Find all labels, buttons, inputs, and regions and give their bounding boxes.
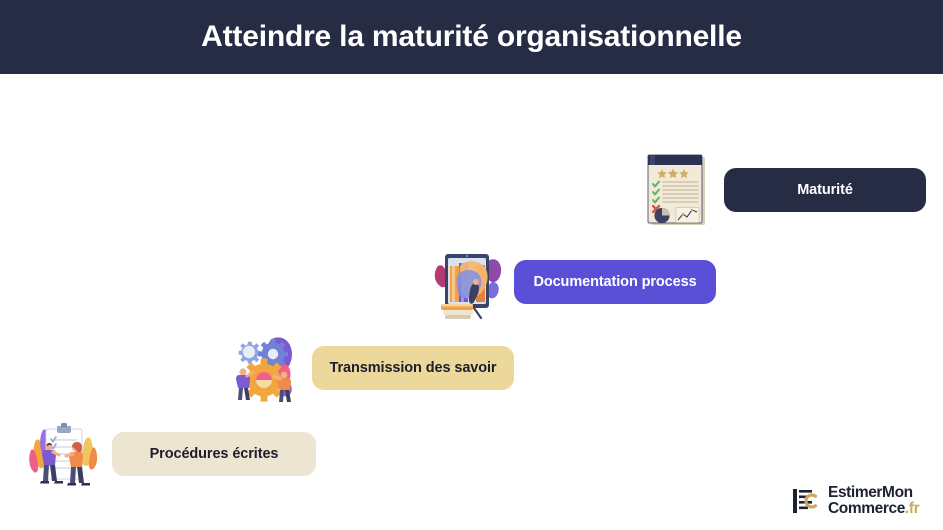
step-maturite[interactable]: Maturité — [640, 152, 926, 228]
step-label-procedures: Procédures écrites — [150, 446, 279, 462]
brand-line-2: Commerce.fr — [828, 501, 919, 517]
brand-tld: .fr — [905, 500, 919, 517]
step-pill-procedures[interactable]: Procédures écrites — [112, 432, 316, 476]
brand-logo[interactable]: EstimerMon Commerce.fr — [790, 485, 919, 517]
books-tablet-icon — [432, 244, 504, 320]
slide-canvas: Atteindre la maturité organisationnelle — [0, 0, 943, 530]
step-label-documentation: Documentation process — [533, 274, 696, 290]
step-pill-maturite[interactable]: Maturité — [724, 168, 926, 212]
brand-line-2-text: Commerce — [828, 500, 905, 517]
step-label-maturite: Maturité — [797, 182, 853, 198]
step-pill-documentation[interactable]: Documentation process — [514, 260, 716, 304]
step-pill-transmission[interactable]: Transmission des savoir — [312, 346, 514, 390]
ec-document-mark-icon — [790, 486, 820, 516]
step-transmission[interactable]: Transmission des savoir — [228, 330, 514, 406]
header-bar: Atteindre la maturité organisationnelle — [0, 0, 943, 74]
gears-people-icon — [228, 330, 300, 406]
clipboard-people-icon — [28, 416, 100, 492]
step-procedures[interactable]: Procédures écrites — [28, 416, 316, 492]
page-title: Atteindre la maturité organisationnelle — [201, 20, 742, 54]
step-documentation[interactable]: Documentation process — [432, 244, 716, 320]
brand-line-1: EstimerMon — [828, 485, 919, 501]
brand-wordmark: EstimerMon Commerce.fr — [828, 485, 919, 517]
step-label-transmission: Transmission des savoir — [330, 360, 497, 376]
report-checklist-icon — [640, 152, 712, 228]
